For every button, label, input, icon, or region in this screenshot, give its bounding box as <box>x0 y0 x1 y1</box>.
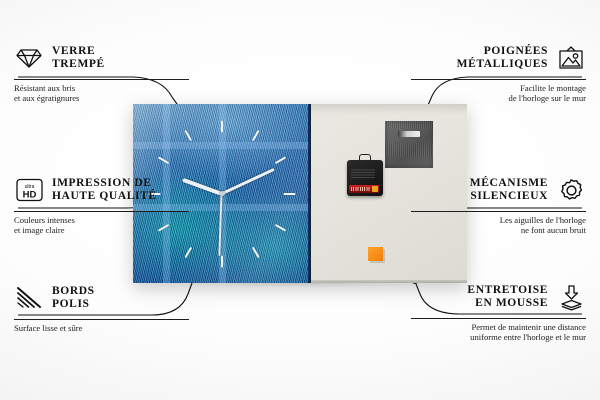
quartz-mechanism <box>347 160 383 196</box>
feature-divider <box>411 318 586 319</box>
feature-description: Résistant aux bris et aux égratignures <box>14 83 189 104</box>
product-feature-infographic: VERRE TREMPÉ Résistant aux bris et aux é… <box>0 0 600 400</box>
feature-description: Les aiguilles de l'horloge ne font aucun… <box>411 215 586 236</box>
feature-title-line2: TREMPÉ <box>52 58 105 70</box>
feature-header: ENTRETOISE EN MOUSSE <box>411 277 586 317</box>
feature-impression-haute-qualite: ultra HD IMPRESSION DE HAUTE QUALITÉ Cou… <box>14 170 189 236</box>
feature-desc-line1: Couleurs intenses <box>14 215 75 225</box>
back-panel-top-shade <box>311 104 467 114</box>
feature-title: POIGNÉES MÉTALLIQUES <box>457 45 548 71</box>
feature-description: Surface lisse et sûre <box>14 323 189 333</box>
feature-title-line2: EN MOUSSE <box>475 297 548 309</box>
feature-desc-line2: uniforme entre l'horloge et le mur <box>470 332 586 342</box>
feature-title: VERRE TREMPÉ <box>52 45 105 71</box>
mechanism-label <box>351 169 375 178</box>
feature-entretoise-en-mousse: ENTRETOISE EN MOUSSE Permet de maintenir… <box>411 277 586 343</box>
feature-title: IMPRESSION DE HAUTE QUALITÉ <box>52 177 157 203</box>
feature-desc-line1: Les aiguilles de l'horloge <box>500 215 586 225</box>
feature-title-line1: VERRE <box>52 45 95 57</box>
feature-desc-line1: Facilite le montage <box>520 83 586 93</box>
feature-bords-polis: BORDS POLIS Surface lisse et sûre <box>14 278 189 333</box>
feature-header: ultra HD IMPRESSION DE HAUTE QUALITÉ <box>14 170 189 210</box>
feature-header: POIGNÉES MÉTALLIQUES <box>411 38 586 78</box>
feature-divider <box>14 211 189 212</box>
feature-desc-line2: et aux égratignures <box>14 93 79 103</box>
hour-marker <box>284 192 296 194</box>
feature-title: MÉCANISME SILENCIEUX <box>470 177 548 203</box>
battery-positive-terminal <box>372 186 378 193</box>
feature-poignees-metalliques: POIGNÉES MÉTALLIQUES Facilite le montage… <box>411 38 586 104</box>
feature-description: Facilite le montage de l'horloge sur le … <box>411 83 586 104</box>
feature-divider <box>14 79 189 80</box>
feature-verre-trempe: VERRE TREMPÉ Résistant aux bris et aux é… <box>14 38 189 104</box>
feature-title-line1: MÉCANISME <box>470 177 548 189</box>
foam-spacer <box>368 247 383 261</box>
feature-desc-line2: ne font aucun bruit <box>521 225 586 235</box>
feature-mecanisme-silencieux: MÉCANISME SILENCIEUX Les aiguilles de l'… <box>411 170 586 236</box>
battery-text <box>351 187 371 191</box>
feature-description: Permet de maintenir une distance uniform… <box>411 322 586 343</box>
polished-edge-icon <box>14 283 44 313</box>
feature-header: MÉCANISME SILENCIEUX <box>411 170 586 210</box>
feature-title: ENTRETOISE EN MOUSSE <box>467 284 548 310</box>
feature-title-line1: BORDS <box>52 285 95 297</box>
feature-description: Couleurs intenses et image claire <box>14 215 189 236</box>
gear-icon <box>556 175 586 205</box>
feature-desc-line2: de l'horloge sur le mur <box>509 93 586 103</box>
feature-desc-line1: Résistant aux bris <box>14 83 75 93</box>
ultra-hd-icon: ultra HD <box>14 175 44 205</box>
foam-spacer-icon <box>556 282 586 312</box>
picture-frame-hanger-icon <box>556 43 586 73</box>
feature-divider <box>411 79 586 80</box>
feature-divider <box>14 319 189 320</box>
hour-marker <box>221 120 223 132</box>
feature-title-line2: HAUTE QUALITÉ <box>52 190 157 202</box>
mechanism-hook <box>359 154 371 162</box>
feature-header: VERRE TREMPÉ <box>14 38 189 78</box>
feature-desc-line1: Permet de maintenir une distance <box>471 322 586 332</box>
feature-desc-line1: Surface lisse et sûre <box>14 323 83 333</box>
feature-divider <box>411 211 586 212</box>
feature-title-line2: SILENCIEUX <box>470 190 548 202</box>
diamond-icon <box>14 43 44 73</box>
feature-title-line1: ENTRETOISE <box>467 284 548 296</box>
feature-title-line1: IMPRESSION DE <box>52 177 152 189</box>
feature-header: BORDS POLIS <box>14 278 189 318</box>
clock-hand-cap <box>220 191 225 196</box>
feature-title-line2: POLIS <box>52 298 90 310</box>
battery <box>349 185 379 194</box>
hour-marker <box>221 255 223 267</box>
metal-hanger-plate <box>385 121 433 168</box>
hanger-slot <box>398 131 420 137</box>
feature-desc-line2: et image claire <box>14 225 65 235</box>
feature-title-line2: MÉTALLIQUES <box>457 58 548 70</box>
svg-text:HD: HD <box>22 190 36 201</box>
feature-title-line1: POIGNÉES <box>484 45 548 57</box>
feature-title: BORDS POLIS <box>52 285 95 311</box>
